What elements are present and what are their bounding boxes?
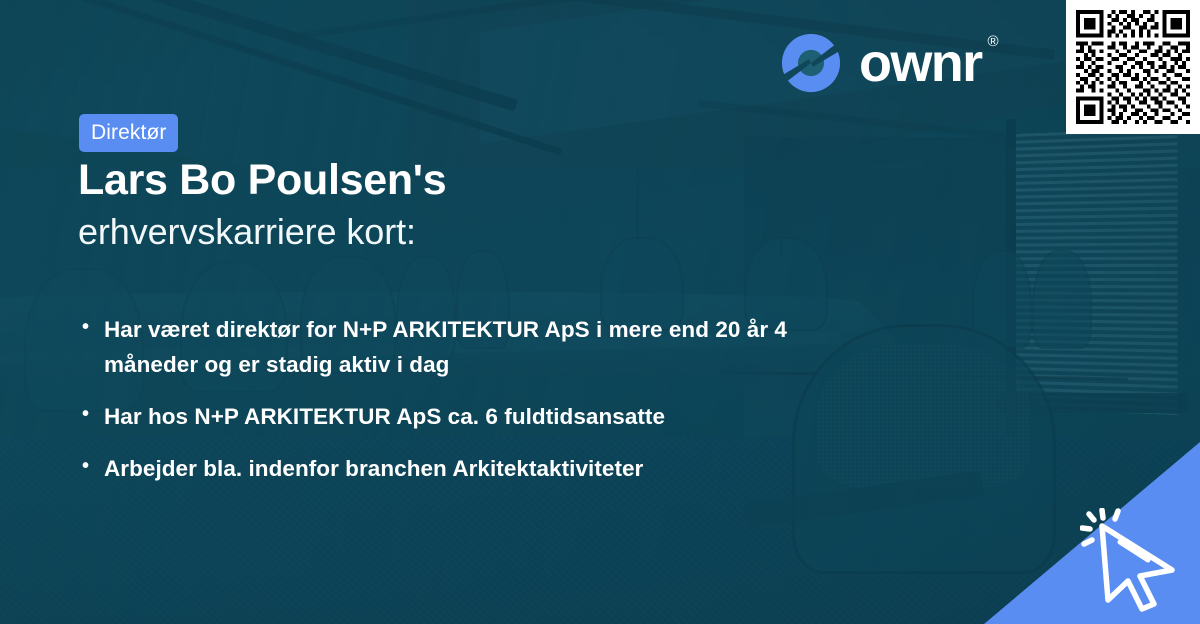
ownr-logo[interactable]: ownr ® (780, 32, 982, 94)
page-subtitle: erhvervskarriere kort: (78, 212, 416, 252)
list-item: Har været direktør for N+P ARKITEKTUR Ap… (78, 313, 878, 383)
career-card: Direktør Lars Bo Poulsen's erhvervskarri… (0, 0, 1200, 624)
ownr-circular-logo-icon (780, 32, 842, 94)
role-badge: Direktør (79, 114, 178, 152)
ownr-wordmark-text: ownr (859, 33, 982, 93)
list-item: Arbejder bla. indenfor branchen Arkitekt… (78, 452, 918, 487)
qr-code-panel[interactable] (1066, 0, 1200, 134)
career-facts-list: Har været direktør for N+P ARKITEKTUR Ap… (78, 313, 918, 504)
page-title: Lars Bo Poulsen's (78, 158, 446, 204)
ownr-wordmark: ownr ® (859, 36, 982, 90)
click-cursor-icon (1080, 508, 1192, 612)
list-item: Har hos N+P ARKITEKTUR ApS ca. 6 fuldtid… (78, 400, 918, 435)
registered-trademark-icon: ® (988, 34, 999, 49)
qr-code-icon (1076, 10, 1190, 124)
card-content: Direktør Lars Bo Poulsen's erhvervskarri… (0, 0, 1200, 624)
